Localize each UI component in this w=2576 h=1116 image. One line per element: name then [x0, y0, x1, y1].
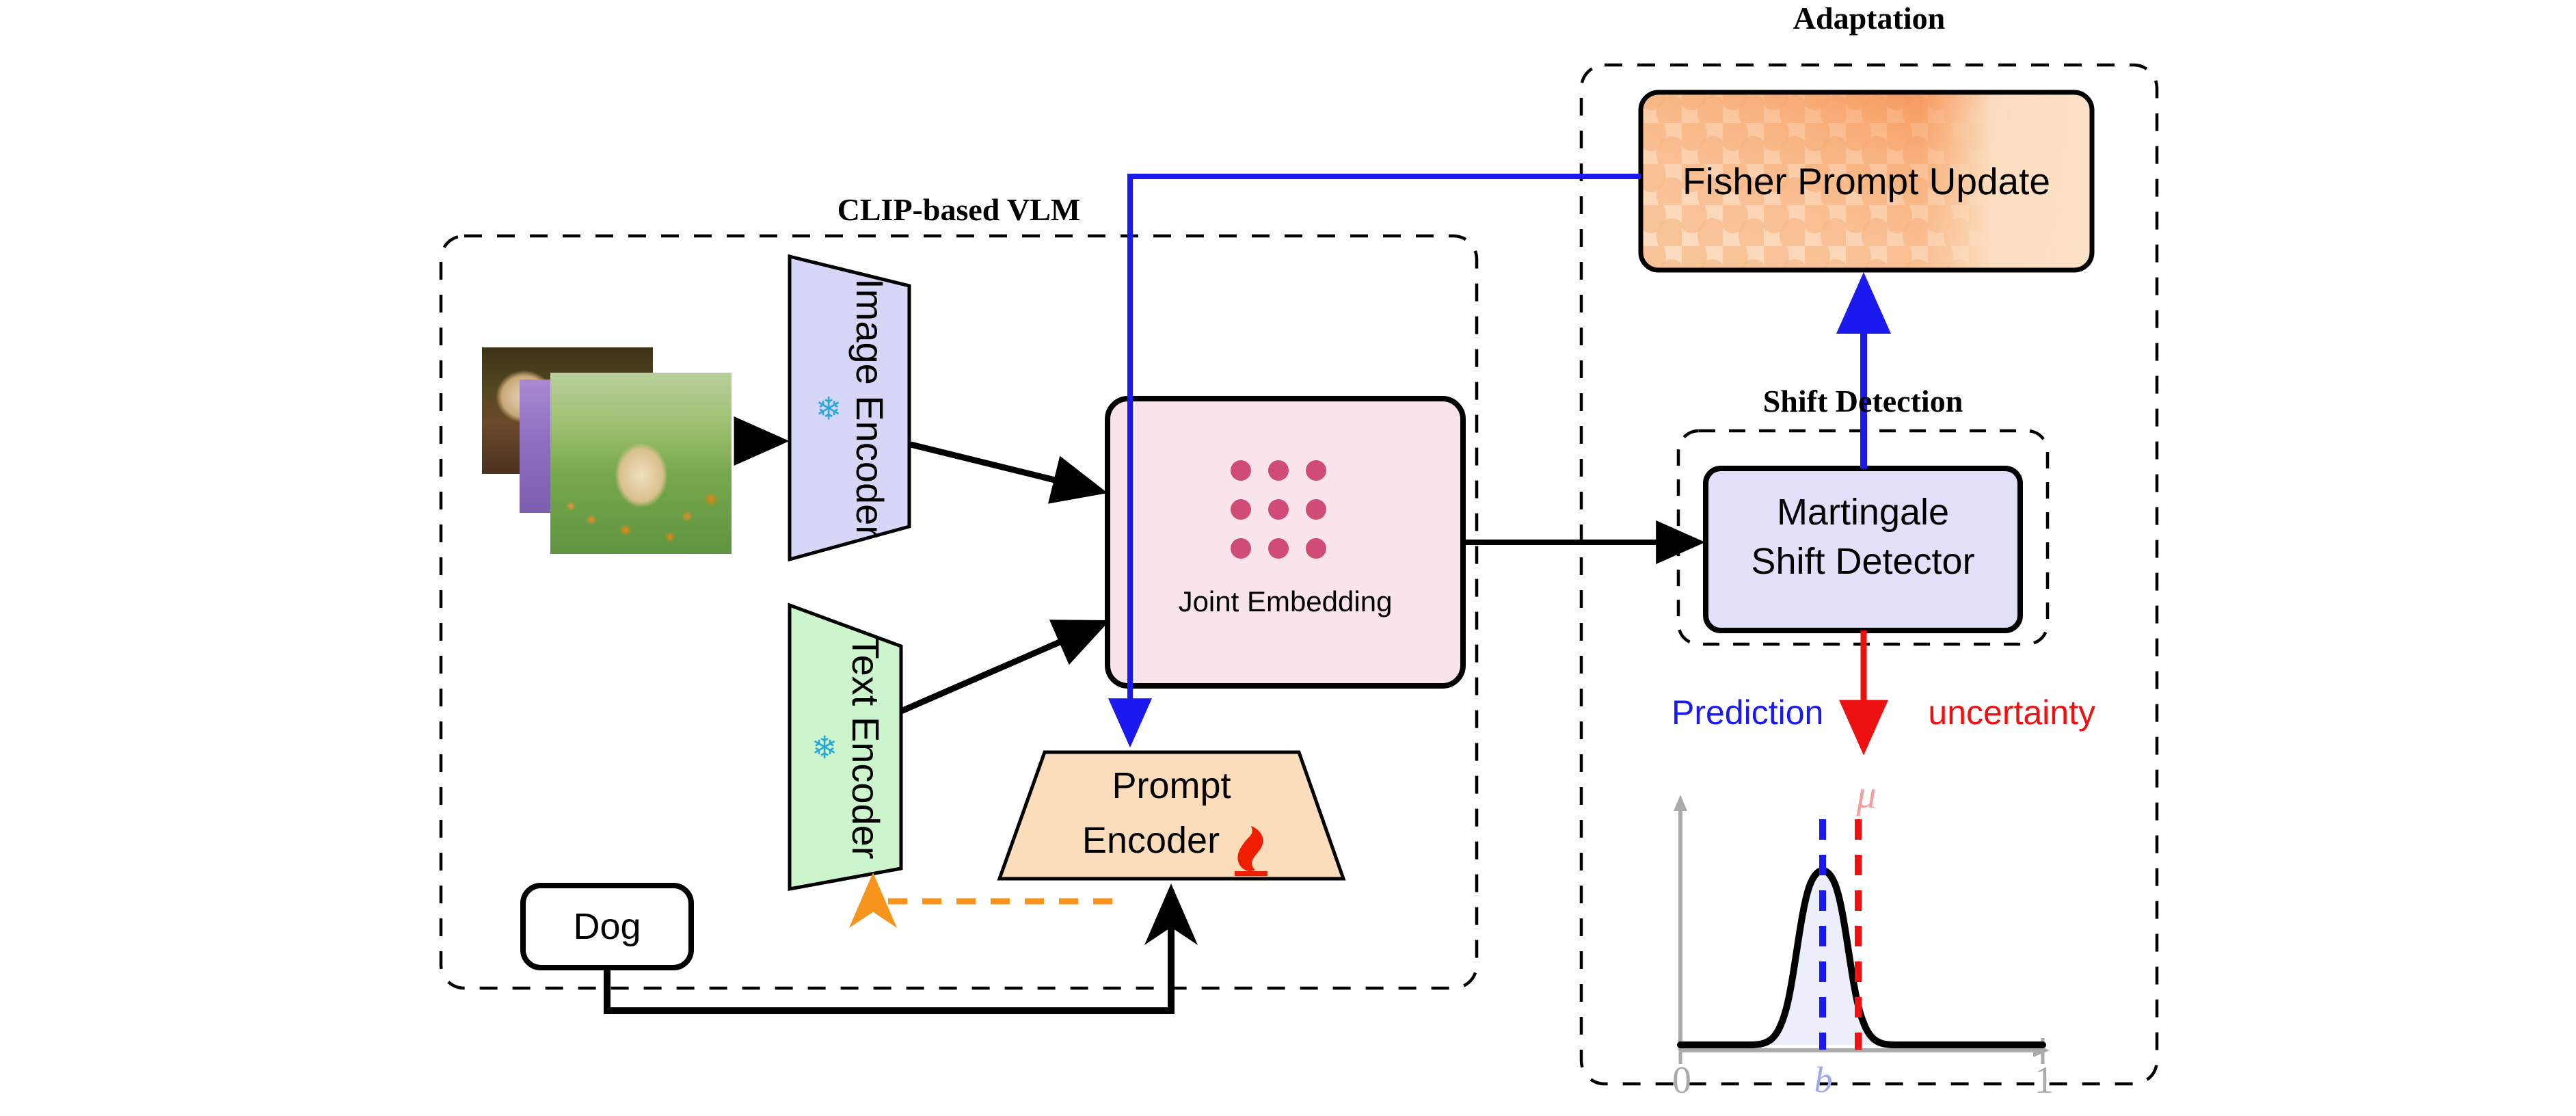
- chart-marker-label-b: b: [1799, 1059, 1847, 1101]
- adaptation-group-title: Adaptation: [1581, 0, 2157, 36]
- edge-text-encoder-to-joint: [901, 624, 1102, 711]
- martingale-shift-detector-box[interactable]: [1706, 468, 2020, 630]
- shift-detection-group-title: Shift Detection: [1678, 383, 2048, 419]
- diagram-canvas: Adaptation CLIP-based VLM Shift Detectio…: [0, 0, 2576, 1116]
- snowflake-icon: ❄: [815, 389, 842, 426]
- embedding-dot-grid: [1231, 460, 1326, 559]
- clip-vlm-group-title: CLIP-based VLM: [441, 191, 1477, 228]
- text-encoder-label: Text Encoder: [845, 635, 885, 859]
- edge-image-encoder-to-joint: [911, 444, 1099, 491]
- prompt-encoder-shape[interactable]: [999, 752, 1343, 879]
- diagram-graphics: [0, 0, 2576, 1116]
- uncertainty-label: uncertainty: [1928, 693, 2095, 732]
- chart-xtick-0: 0: [1658, 1059, 1706, 1102]
- prediction-uncertainty-annotation: Prediction uncertainty: [1672, 692, 2095, 733]
- dog-label-box[interactable]: [523, 886, 691, 968]
- snowflake-icon: ❄: [811, 728, 837, 765]
- uncertainty-distribution-chart: [1674, 795, 2050, 1064]
- image-encoder-label: Image Encoder: [849, 278, 889, 538]
- prediction-label: Prediction: [1672, 693, 1823, 732]
- chart-xtick-1: 1: [2020, 1059, 2068, 1102]
- text-encoder-label-group: Text Encoder ❄: [790, 605, 901, 889]
- chart-marker-label-mu: μ: [1839, 771, 1894, 817]
- image-encoder-label-group: Image Encoder ❄: [790, 256, 909, 559]
- fisher-prompt-update-box[interactable]: [1641, 92, 2092, 270]
- edge-prompt-encoder-to-text-encoder: [873, 879, 1112, 901]
